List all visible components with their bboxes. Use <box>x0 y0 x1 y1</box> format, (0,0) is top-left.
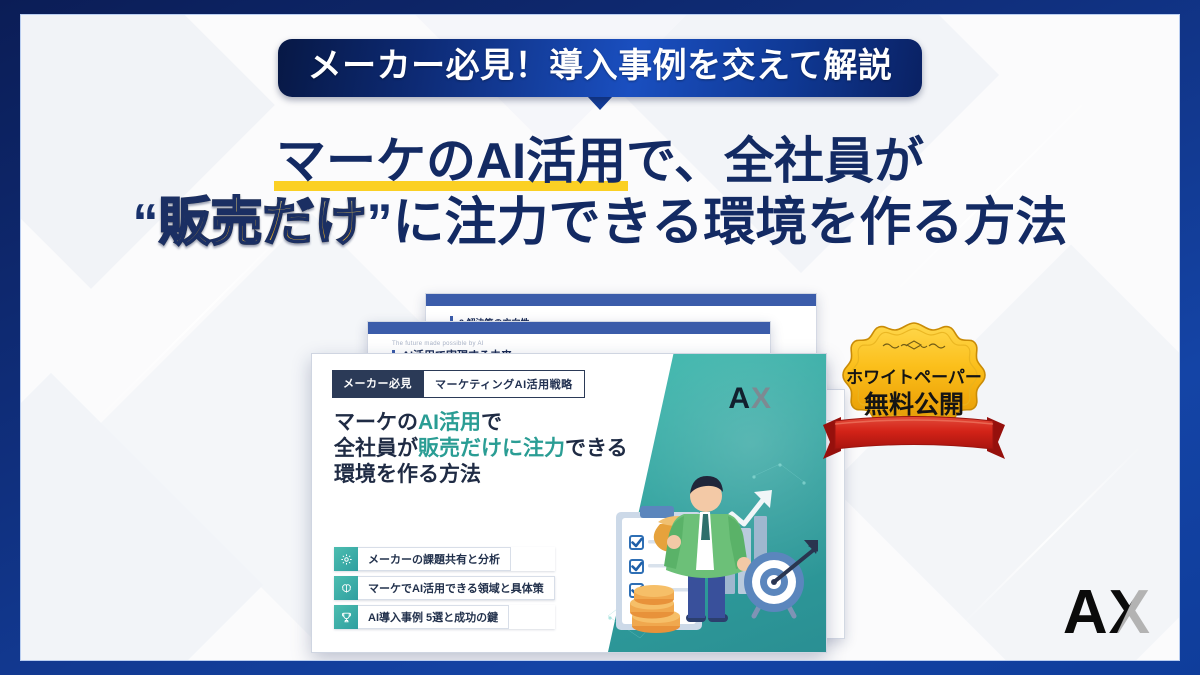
document-bullet-item: メーカーの課題共有と分析 <box>334 547 555 571</box>
document-stack: 2.解決策の方向性 この質問の回答を入力します 入力しました。 The futu… <box>297 293 857 661</box>
doc-t3-a: 環境を作る方法 <box>334 463 481 486</box>
eyebrow-badge-pill: メーカー必見！導入事例を交えて解説 <box>278 39 923 97</box>
document-ax-logo-a: A <box>728 382 751 415</box>
doc-t2-a: 全社員が <box>334 437 418 460</box>
front-document: AX メーカー必見 マーケティングAI活用戦略 マーケのAI活用で 全社員が販売… <box>311 353 827 653</box>
document-ax-logo-x: X <box>751 382 772 415</box>
document-bullet-label: AI導入事例 5選と成功の鍵 <box>358 605 509 629</box>
gear-icon <box>334 547 358 571</box>
back-page-mid-band <box>368 322 770 334</box>
brain-icon <box>334 576 358 600</box>
eyebrow-badge: メーカー必見！導入事例を交えて解説 <box>21 39 1179 110</box>
back-page-mid-eyebrow: The future made possible by AI <box>392 341 484 347</box>
document-bullet-label: メーカーの課題共有と分析 <box>358 547 511 571</box>
headline-line-2-rest: に注力できる環境を作る方法 <box>393 194 1068 252</box>
doc-t1-a: マーケの <box>334 411 418 434</box>
document-bullet-item: AI導入事例 5選と成功の鍵 <box>334 605 555 629</box>
document-tags: メーカー必見 マーケティングAI活用戦略 <box>332 370 585 398</box>
document-tag-light: マーケティングAI活用戦略 <box>423 370 585 398</box>
document-bullet-label: マーケでAI活用できる領域と具体策 <box>358 576 555 600</box>
seal-line-1: ホワイトペーパー <box>846 368 982 387</box>
document-title-line-3: 環境を作る方法 <box>334 462 628 488</box>
document-title-line-2: 全社員が販売だけに注力できる <box>334 436 628 462</box>
document-ax-logo: AX <box>728 382 772 416</box>
document-title: マーケのAI活用で 全社員が販売だけに注力できる 環境を作る方法 <box>334 410 628 488</box>
doc-t1-b: で <box>481 411 502 434</box>
gold-seal-svg: ホワイトペーパー 無料公開 <box>821 321 1007 471</box>
gold-seal-badge: ホワイトペーパー 無料公開 <box>821 321 1007 471</box>
trophy-icon <box>334 605 358 629</box>
back-page-far-band <box>426 294 816 306</box>
document-illustration: $ <box>604 456 818 646</box>
seal-line-2: 無料公開 <box>864 390 964 419</box>
headline-line-2: “販売だけ”に注力できる環境を作る方法 <box>21 194 1179 253</box>
doc-t2-accent: 販売だけに注力 <box>418 437 565 460</box>
headline-line-1: マーケのAI活用で、全社員が <box>21 133 1179 190</box>
document-tag-dark: メーカー必見 <box>332 370 423 398</box>
ax-logo-a: A <box>1063 578 1109 647</box>
headline-line-1-rest: で、全社員が <box>626 133 924 189</box>
red-ribbon <box>823 417 1005 460</box>
headline: マーケのAI活用で、全社員が “販売だけ”に注力できる環境を作る方法 <box>21 133 1179 253</box>
ax-logo: AX <box>1063 582 1151 644</box>
document-bullet-item: マーケでAI活用できる領域と具体策 <box>334 576 555 600</box>
quote-open: “ <box>133 194 159 252</box>
headline-highlight: マーケのAI活用 <box>276 133 626 190</box>
ax-logo-x: X <box>1109 578 1151 647</box>
illustration-svg: $ <box>604 456 818 646</box>
document-title-line-1: マーケのAI活用で <box>334 410 628 436</box>
document-bullet-list: メーカーの課題共有と分析 マーケでAI活用できる領域と具体策 <box>334 547 555 634</box>
eyebrow-badge-label: メーカー必見！導入事例を交えて解説 <box>308 48 893 85</box>
headline-gold-text: 販売だけ <box>159 194 367 252</box>
quote-close: ” <box>367 194 393 252</box>
doc-t1-accent: AI活用 <box>418 411 481 434</box>
slide-canvas: メーカー必見！導入事例を交えて解説 マーケのAI活用で、全社員が “販売だけ”に… <box>20 14 1180 661</box>
eyebrow-badge-pointer <box>587 96 613 110</box>
